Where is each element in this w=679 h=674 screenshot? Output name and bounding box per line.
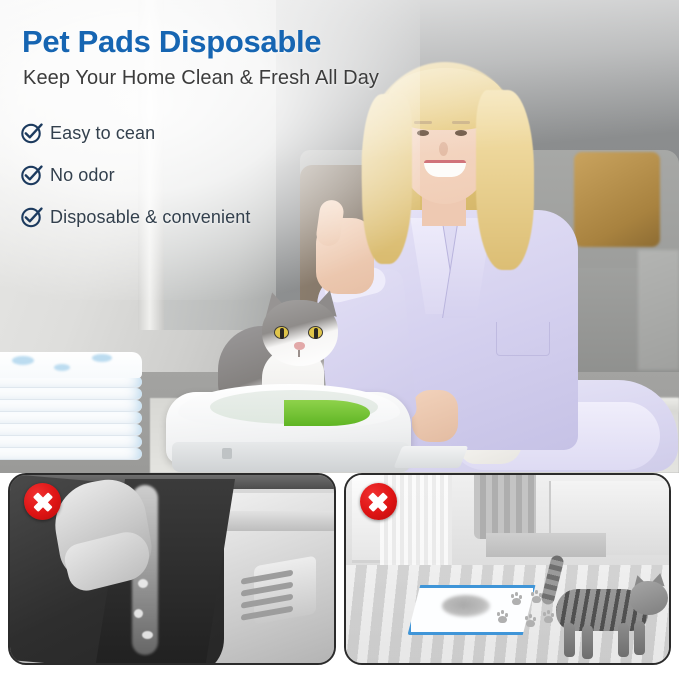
hero-photo: Pet Pads Disposable Keep Your Home Clean… (0, 0, 679, 473)
list-item: Easy to cean (20, 112, 350, 154)
cat-leg (582, 625, 593, 659)
walking-cat (542, 559, 670, 663)
panel-washing-litterbox (8, 473, 336, 665)
model-pocket (496, 322, 550, 356)
cat-eye-left (274, 326, 289, 339)
check-circle-icon (20, 121, 44, 145)
cat-head (630, 581, 668, 615)
cat-leg (618, 623, 629, 657)
paw-print (510, 593, 523, 605)
baseboard (486, 533, 606, 557)
list-item: Disposable & convenient (20, 196, 350, 238)
model-resting-hand (412, 390, 458, 442)
litter-box-latch (222, 448, 232, 459)
feature-list: Easy to cean No odor Dis (20, 112, 350, 238)
green-pad (284, 400, 370, 426)
litter-box-base (172, 442, 410, 472)
feature-label: No odor (50, 165, 115, 186)
cat-leg (634, 621, 645, 655)
cat-eye-right (308, 326, 323, 339)
paw-print (496, 611, 509, 623)
red-x-icon (360, 483, 397, 520)
check-circle-icon (20, 163, 44, 187)
red-x-icon (24, 483, 61, 520)
litter-box-tray (394, 446, 469, 468)
feature-label: Disposable & convenient (50, 207, 250, 228)
check-circle-icon (20, 205, 44, 229)
cat-mouth (298, 350, 300, 357)
product-poster: Pet Pads Disposable Keep Your Home Clean… (0, 0, 679, 674)
page-title: Pet Pads Disposable (22, 24, 321, 60)
drain-board (254, 556, 316, 625)
page-subtitle: Keep Your Home Clean & Fresh All Day (23, 67, 379, 90)
litter-box (166, 378, 411, 473)
paw-print (524, 615, 537, 627)
cat-leg (564, 623, 575, 657)
feature-label: Easy to cean (50, 123, 155, 144)
cat-nose (294, 342, 305, 350)
curtain (474, 475, 536, 539)
sofa-cushion-gray (638, 250, 679, 370)
comparison-panels (0, 473, 679, 674)
pad-stack (0, 352, 146, 464)
pad-stain (442, 595, 490, 617)
list-item: No odor (20, 154, 350, 196)
panel-cat-paw-prints (344, 473, 672, 665)
